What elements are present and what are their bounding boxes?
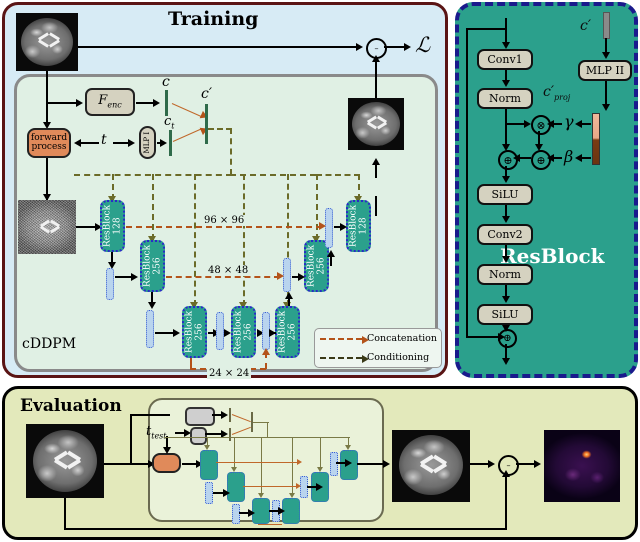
resolution-label-96: 96 × 96 [202,215,246,226]
cproj-symbol: c′proj [543,84,570,102]
eval-residual-across-line [64,528,507,530]
skip-connection-48 [166,276,280,278]
bott-arrow-2 [224,329,231,337]
resolution-label-24: 24 × 24 [207,368,251,379]
predicted-brain-image [348,98,404,150]
conditioning-drop-3 [194,174,196,306]
eval-flow-arrow-1 [223,489,230,497]
eval-flow-arrow-2 [248,509,255,517]
evaluation-panel-title: Evaluation [20,396,122,416]
conv2-box: Conv2 [477,224,533,245]
t-test-symbol: ttest [146,424,167,441]
downsample-bar-1 [106,268,114,300]
conditioning-bus-from-cprime [208,128,232,130]
eval-input-line [104,463,132,465]
t-symbol: t [101,132,107,148]
residual-skip-vertical [466,28,468,338]
eval-skip-conn-3 [258,524,282,525]
gamma-beta-parameter-bar [592,113,600,165]
mlp2-box: MLP II [578,60,632,81]
gamma-to-mul-arrow [547,120,554,128]
skip-arrow-96 [319,222,326,230]
eval-recon-to-minus-arrow [488,460,495,468]
arrow-to-forward-process [74,139,81,147]
loss-symbol: ℒ [415,33,430,57]
eval-enc-out-arrow [221,411,228,419]
eval-forward-process-box [152,453,181,473]
resblock-bottleneck-2: ResBlock256 [231,306,256,358]
eval-minus-to-heat-arrow [534,460,541,468]
eval-residual-up-arrow [502,470,510,477]
legend-label-concatenation: Concatenation [367,333,437,344]
eval-input-brain-image [26,424,104,498]
down-arrow-h-1 [131,273,138,281]
eval-skip-arrow-1 [297,459,302,465]
ct-symbol: ct [164,114,175,131]
minus-to-loss-line [384,46,406,48]
skip-connection-96 [126,226,322,228]
legend-line-conditioning [320,357,362,359]
residual-skip-top [466,28,506,30]
bottleneck-bar-1 [216,312,224,350]
conditioning-bus-down [230,128,232,175]
arrow-mlp1-to-ct [160,139,167,147]
up-arrow-2 [327,250,335,257]
resblock-bottleneck-3: ResBlock256 [275,306,300,358]
eval-resblock-1 [200,450,218,480]
unet-out-up-line-2 [375,160,377,178]
c-symbol: c [162,74,170,90]
eval-flow-arrow-3 [278,507,285,515]
eval-skip-bar-5 [330,452,338,476]
silu1-to-conv2-arrow [502,216,510,223]
cddpm-label: cDDPM [22,336,76,352]
cprime-feature-bar [205,104,208,144]
resblock-output-arrow [502,358,510,365]
training-panel-title: Training [168,8,258,30]
eval-skip-arrow-2 [296,483,301,489]
eval-residual-up-line [505,474,507,529]
conditioning-drop-4 [243,174,245,306]
legend-label-conditioning: Conditioning [367,352,429,363]
up-arrow-h-2 [340,223,347,231]
unet-out-up-line [375,196,377,216]
eval-encoder-box [185,407,215,426]
ttest-down-arrow [163,447,171,454]
conditioning-drop-2 [152,174,154,240]
eval-input-top-line [130,414,170,416]
eval-unet-out-arrow [383,460,390,468]
down-arrow-h-2 [173,329,180,337]
norm2-to-silu2-arrow [502,296,510,303]
eval-c-bar [229,408,231,422]
skip-arrow-48 [277,272,284,280]
eval-anomaly-heatmap-image [544,430,620,502]
eval-flow-arrow-4 [316,483,323,491]
legend-row-conditioning: Conditioning [315,348,441,367]
branch-to-fenc-line [47,102,78,104]
resblock-enc-1: ResBlock128 [100,200,125,252]
silu2-box: SiLU [477,304,533,325]
eval-skip-bar-1 [205,482,213,504]
upsample-bar-2 [325,208,333,248]
eval-mlp-box [190,427,207,445]
eval-flow-arrow-5 [345,459,352,467]
arrow-to-fenc [76,99,83,107]
eval-resblock-2 [227,472,245,502]
beta-to-add-arrow [547,154,554,162]
eval-reconstructed-brain-image [392,430,470,502]
beta-symbol: β [564,147,573,166]
training-input-to-loss-line [78,46,358,48]
norm2-box: Norm [477,264,533,285]
conv1-box: Conv1 [477,49,533,70]
ct-feature-bar [169,130,172,156]
f-enc-box: Fenc [85,88,135,116]
silu1-box: SiLU [477,184,533,205]
forward-process-label-2: process [31,142,66,152]
residual-skip-bottom [466,336,500,338]
eval-minus-to-heat-line [516,463,536,465]
down-arrow-2 [148,302,156,309]
t-to-forward-line [79,142,99,144]
resblock-dec-1: ResBlock128 [346,200,371,252]
input-brain-image-training [16,13,78,71]
eval-recon-to-minus-line [470,463,490,465]
eval-skip-conn-1 [216,462,298,463]
eval-cond-bus-down [267,422,268,438]
cprime-input-bar [603,12,610,39]
upsample-bar-1 [283,258,291,292]
legend-row-concatenation: Concatenation [315,329,441,348]
training-legend: Concatenation Conditioning [314,328,442,368]
cprime-symbol: c′ [201,86,212,102]
eval-cond-bus-main [164,437,269,438]
eval-unet-out-line [357,463,385,465]
gamma-symbol: γ [564,112,574,131]
norm1-box: Norm [477,88,533,109]
resblock-input-arrow [502,42,510,49]
resolution-label-48: 48 × 48 [206,265,250,276]
downsample-bar-2 [146,310,154,348]
eval-skip-bar-2 [232,504,240,524]
conditioning-bus-far-right [316,174,360,176]
eval-cond-drop-2 [234,437,235,469]
residual-add-operator-2: ⊕ [498,329,517,348]
bar-to-beta-arrow [575,154,582,162]
eval-ct-bar [229,428,231,441]
input-image-down-line [46,71,48,125]
add-to-silu1-arrow [502,176,510,183]
conditioning-drop-6 [316,174,318,240]
eval-residual-down-line [64,498,66,530]
forward-process-box: forward process [27,128,71,158]
mlp2-to-bar-arrow [602,104,610,111]
resblock-dec-2: ResBlock256 [304,240,329,292]
arrow-fenc-to-c [153,99,160,107]
noisy-brain-image [18,200,76,254]
mlp1-label: MLP I [144,132,151,154]
up-arrow-h-1 [298,273,305,281]
eval-input-up-line [130,414,132,464]
bar-to-gamma-arrow [575,120,582,128]
bott-arrow-4 [269,329,276,337]
mlp1-box: MLP I [139,126,156,159]
pred-to-minus-line [375,58,377,98]
eval-cond-bus-main-right [267,437,350,438]
eval-cond-drop-5 [320,437,321,469]
legend-line-concatenation [320,338,362,340]
skip-24-arrowhead [262,348,270,355]
c-feature-bar [165,90,168,116]
cprime-to-mlp2-arrow [602,52,610,59]
resblock-bottleneck-1: ResBlock256 [182,306,207,358]
conv1-to-norm-arrow [502,80,510,87]
norm1-to-mul-arrow [524,120,531,128]
arrow-to-loss [404,43,411,51]
cprime-symbol-resblock: c′ [580,18,591,34]
arrow-to-minus-training [356,43,363,51]
arrow-t-to-mlp1 [128,139,135,147]
add-to-add-arrow [513,154,520,162]
conv2-to-norm2-arrow [502,256,510,263]
eval-skip-conn-2 [243,486,299,487]
up-arrow-1 [285,292,293,299]
pred-to-minus-arrow [372,55,380,62]
down-h-2 [155,332,175,334]
resblock-enc-2: ResBlock256 [140,240,165,292]
